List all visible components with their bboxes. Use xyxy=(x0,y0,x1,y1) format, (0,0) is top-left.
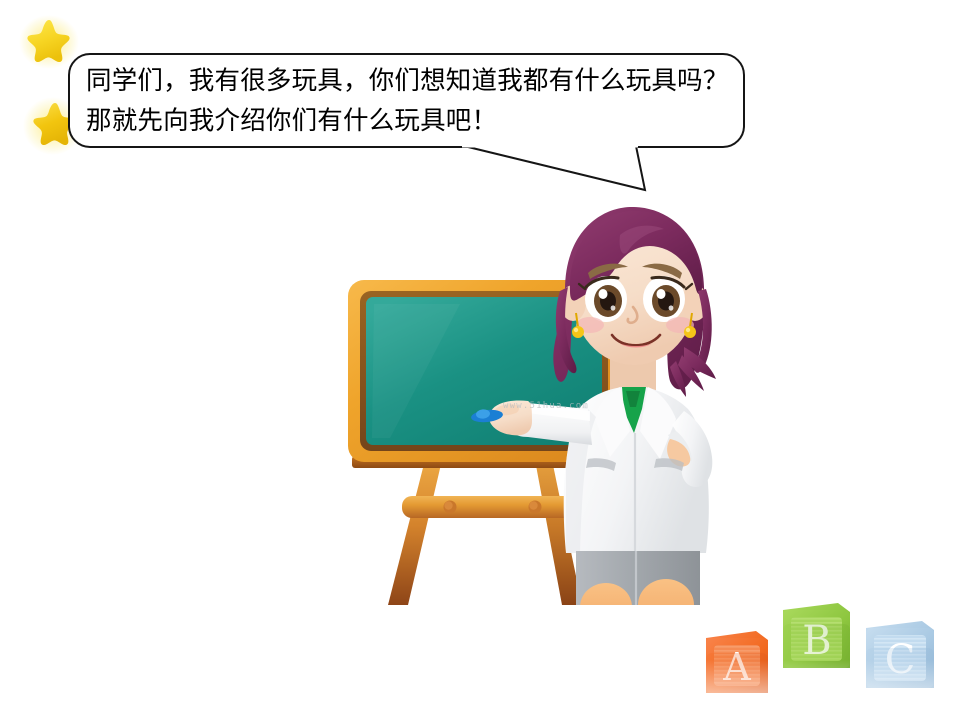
abc-blocks: A B C xyxy=(690,598,955,720)
speech-bubble-text: 同学们，我有很多玩具，你们想知道我都有什么玩具吗？那就先向我介绍你们有什么玩具吧… xyxy=(86,61,731,141)
speech-bubble: 同学们，我有很多玩具，你们想知道我都有什么玩具吗？那就先向我介绍你们有什么玩具吧… xyxy=(68,53,745,148)
slide-canvas: www.51hua.com 同学们，我有很多玩具，你们想知道我都有什么玩具吗？那… xyxy=(0,0,960,720)
teacher-character xyxy=(470,195,770,605)
block-b: B xyxy=(783,603,850,668)
speech-bubble-tail xyxy=(440,138,670,198)
star-top-icon xyxy=(18,14,80,70)
